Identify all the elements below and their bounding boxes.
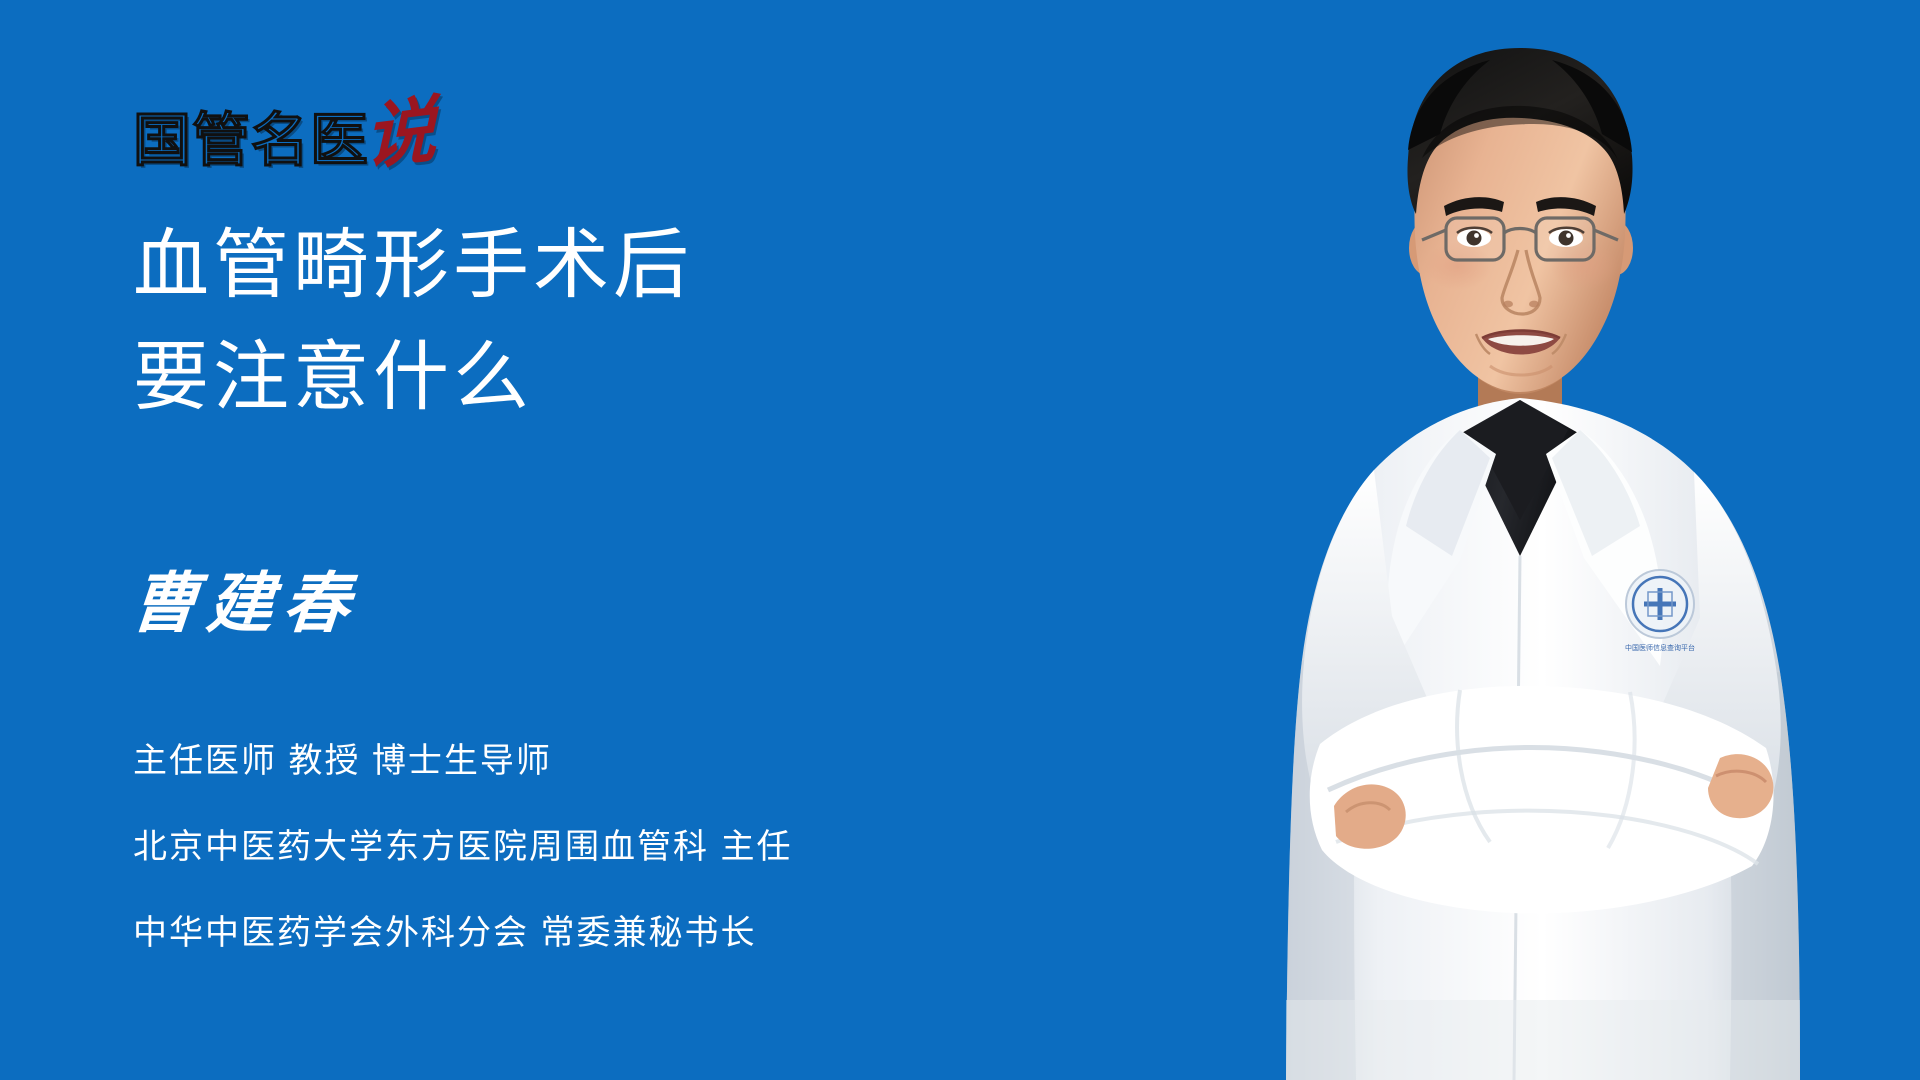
doctor-name: 曹建春 xyxy=(128,565,363,645)
brand-logo-main-text: 国管名医 xyxy=(133,112,369,170)
video-cover-slide: 国管名医 说 血管畸形手术后 要注意什么 曹建春 主任医师 教授 博士生导师 北… xyxy=(0,0,1920,1080)
credential-line-3: 中华中医药学会外科分会 常委兼秘书长 xyxy=(133,890,1083,976)
credential-line-2: 北京中医药大学东方医院周围血管科 主任 xyxy=(133,804,1083,890)
doctor-credentials-block: 主任医师 教授 博士生导师 北京中医药大学东方医院周围血管科 主任 中华中医药学… xyxy=(133,718,1083,976)
headline-line-1: 血管畸形手术后 xyxy=(133,210,893,322)
headline-block: 血管畸形手术后 要注意什么 xyxy=(133,210,893,434)
brand-logo[interactable]: 国管名医 说 xyxy=(133,92,437,170)
headline-line-2: 要注意什么 xyxy=(133,322,893,434)
brand-logo-accent-text: 说 xyxy=(364,99,437,170)
credential-line-1: 主任医师 教授 博士生导师 xyxy=(133,718,1083,804)
